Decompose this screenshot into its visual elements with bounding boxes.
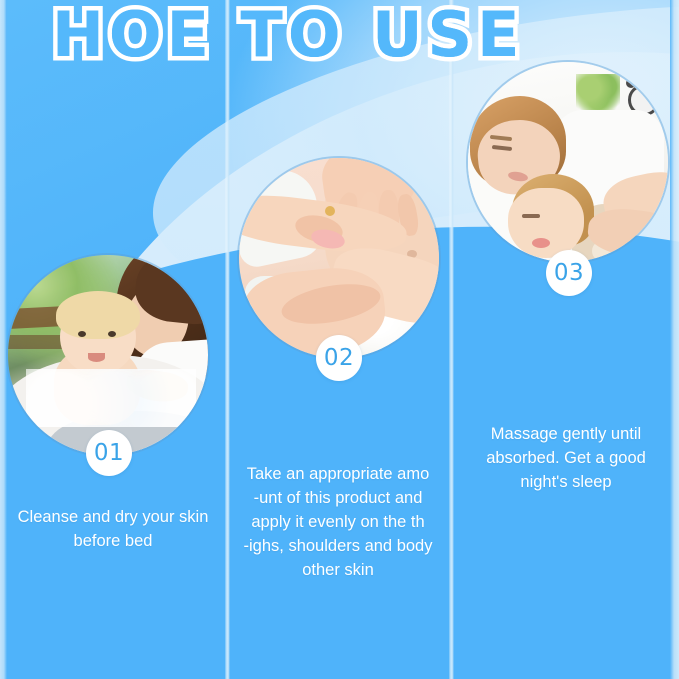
step-1-photo [8,255,208,455]
step-2-photo-scene [239,158,439,358]
step-1-caption-line-2: before bed [10,529,216,553]
column-divider-1 [225,0,230,679]
step-3-caption-line-2: absorbed. Get a good [460,446,672,470]
step-2-photo [239,158,439,358]
step-1-caption: Cleanse and dry your skin before bed [10,505,216,553]
step-2-caption-line-4: -ighs, shoulders and body [232,534,444,558]
step-2-number-badge: 02 [316,335,362,381]
step-2-caption-line-2: -unt of this product and [232,486,444,510]
step-1-caption-line-1: Cleanse and dry your skin [10,505,216,529]
step-2-caption-line-1: Take an appropriate amo [232,462,444,486]
step-1-photo-scene [8,255,208,455]
child-closed-eye [522,214,540,218]
background-edge-right [670,0,679,679]
step-3-number-badge: 03 [546,250,592,296]
step-3-caption-line-1: Massage gently until [460,422,672,446]
child-lips [532,238,550,248]
baby-eye-left [78,331,86,337]
child-face [508,188,584,258]
step-3-caption: Massage gently until absorbed. Get a goo… [460,422,672,494]
gold-ring [325,206,335,216]
plant-decor [576,74,620,110]
step-2-caption: Take an appropriate amo -unt of this pro… [232,462,444,582]
wooden-rail-lower [8,335,68,349]
step-2-caption-line-3: apply it evenly on the th [232,510,444,534]
step-3-caption-line-3: night's sleep [460,470,672,494]
step-3-photo [468,62,668,262]
step-2-caption-line-5: other skin [232,558,444,582]
poster-title-outline: HOE TO USE [52,0,524,71]
step-3-photo-scene [468,62,668,262]
background-edge-left [0,0,7,679]
bath-foam [26,369,196,427]
how-to-use-poster: HOE TO USE HOE TO USE 01 Cleanse and dry… [0,0,679,679]
baby-eye-right [108,331,116,337]
column-divider-2 [449,0,454,679]
baby-hair [56,291,140,339]
baby-mouth [88,353,105,362]
step-1-number-badge: 01 [86,430,132,476]
